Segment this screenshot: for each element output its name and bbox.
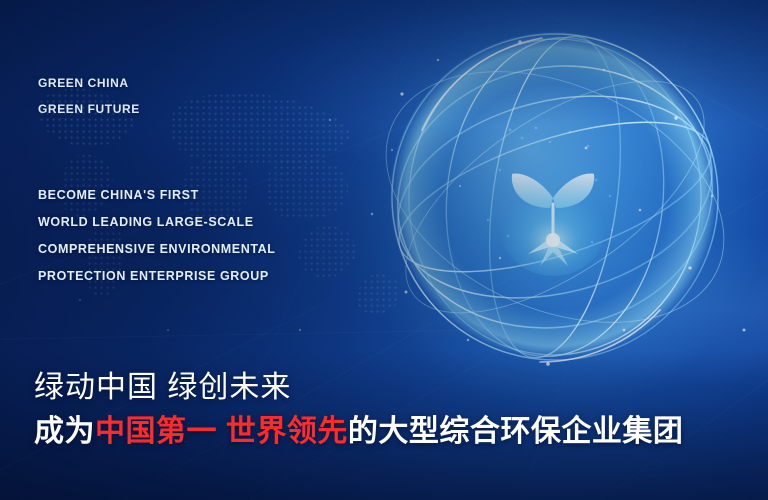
english-main-line-3: COMPREHENSIVE ENVIRONMENTAL (38, 236, 276, 263)
english-top-line-2: GREEN FUTURE (38, 96, 140, 122)
english-main-line-2: WORLD LEADING LARGE-SCALE (38, 209, 276, 236)
chinese-headline-line-2: 成为中国第一 世界领先的大型综合环保企业集团 (34, 410, 683, 454)
english-tagline-main: BECOME CHINA'S FIRST WORLD LEADING LARGE… (38, 182, 276, 290)
chinese-headline-prefix: 成为 (34, 415, 95, 448)
chinese-headline-line-1: 绿动中国 绿创未来 (34, 368, 683, 408)
banner-image: GREEN CHINA GREEN FUTURE BECOME CHINA'S … (0, 0, 768, 500)
english-main-line-4: PROTECTION ENTERPRISE GROUP (38, 263, 276, 290)
english-tagline-top: GREEN CHINA GREEN FUTURE (38, 70, 140, 122)
chinese-headline-highlight: 中国第一 世界领先 (95, 415, 348, 448)
chinese-headline: 绿动中国 绿创未来 成为中国第一 世界领先的大型综合环保企业集团 (34, 368, 683, 454)
english-top-line-1: GREEN CHINA (38, 70, 140, 96)
english-main-line-1: BECOME CHINA'S FIRST (38, 182, 276, 209)
chinese-headline-suffix: 的大型综合环保企业集团 (348, 415, 684, 448)
